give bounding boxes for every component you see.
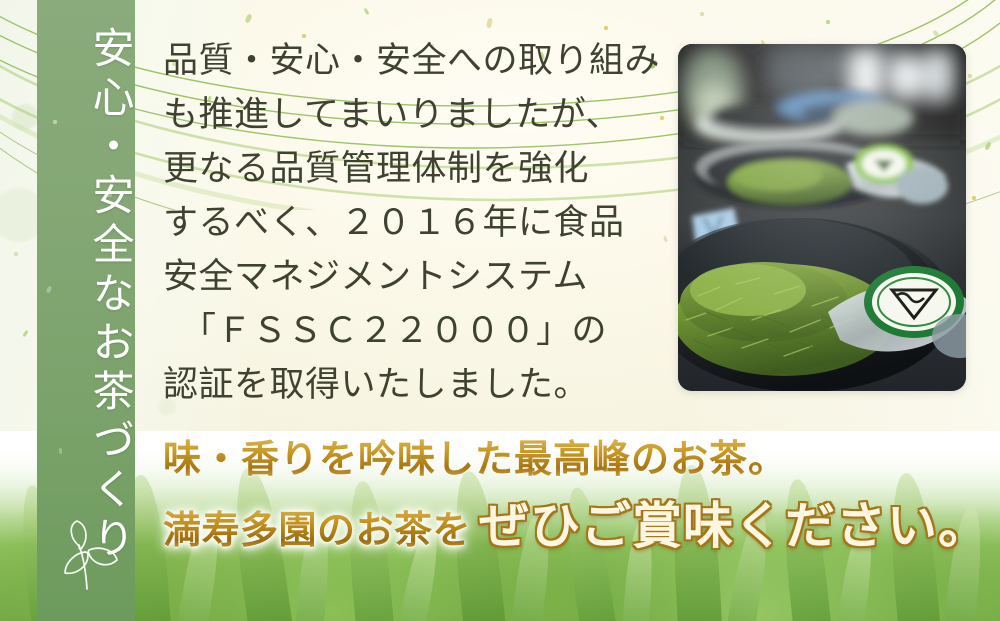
headline-line-1: 味・香りを吟味した最高峰のお茶。 [163,428,787,483]
tea-leaf-sprig-icon [57,519,119,593]
headline-line-2-prefix: 満寿多園のお茶を [163,499,471,554]
vertical-title-banner: 安心・安全なお茶づくり [37,0,135,621]
body-copy-line: 「ＦＳＳＣ２２０００」の [163,304,669,358]
body-copy-line: も推進してまいりましたが、 [163,88,669,142]
body-copy: 品質・安心・安全への取り組み も推進してまいりましたが、 更なる品質管理体制を強… [163,34,669,412]
tea-inspection-photo [678,44,966,391]
tea-inspection-photo-image [678,44,966,391]
headline-line-2-emphasis: ぜひご賞味ください。 [479,486,989,558]
body-copy-line: するべく、２０１６年に食品 [163,196,669,250]
vertical-banner-title: 安心・安全なお茶づくり [37,26,135,565]
promo-banner: 安心・安全なお茶づくり 品質・安心・安全への取り組み も推進してまいりましたが、… [0,0,1000,621]
body-copy-line: 品質・安心・安全への取り組み [163,34,669,88]
body-copy-line: 更なる品質管理体制を強化 [163,142,669,196]
decorative-blob [12,104,38,130]
body-copy-line: 認証を取得いたしました。 [163,358,669,412]
body-copy-line: 安全マネジメントシステム [163,250,669,304]
headline-line-2: 満寿多園のお茶を ぜひご賞味ください。 [163,486,989,558]
